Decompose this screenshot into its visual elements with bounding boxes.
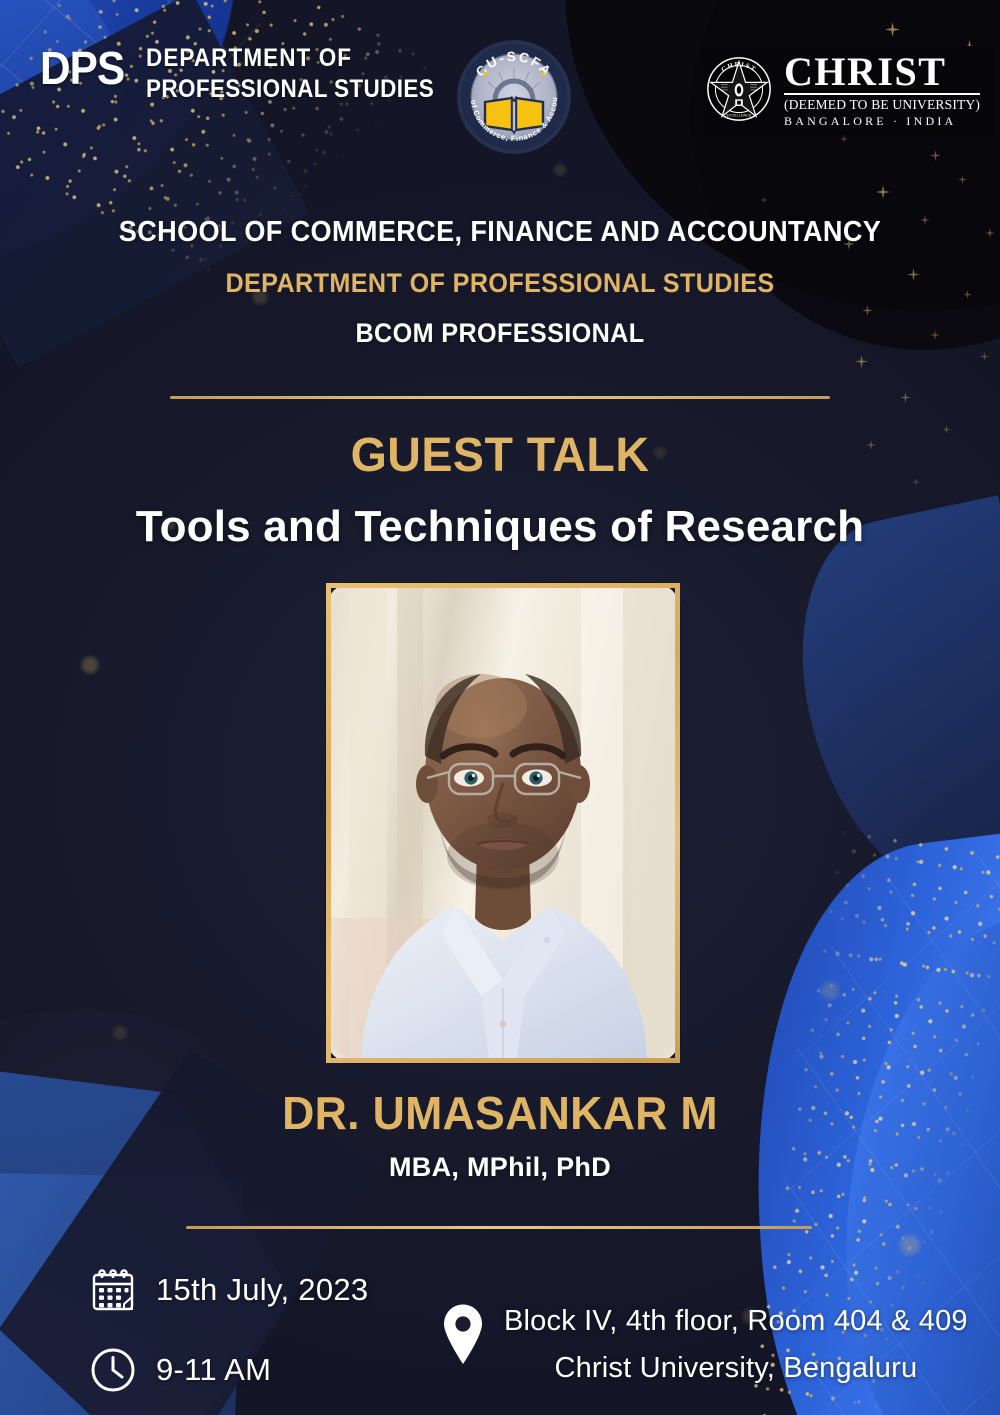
event-date: 15th July, 2023 (156, 1272, 368, 1308)
calendar-icon (88, 1265, 138, 1315)
speaker-photo (331, 588, 675, 1058)
department-name: DEPARTMENT OF PROFESSIONAL STUDIES (25, 268, 975, 299)
event-details: 15th July, 2023 9-11 AM Blo (0, 1255, 1000, 1415)
divider-bottom (186, 1226, 812, 1229)
poster-root: DPS DEPARTMENT OF PROFESSIONAL STUDIES (0, 0, 1000, 1415)
date-time-group: 15th July, 2023 9-11 AM (88, 1265, 368, 1415)
speaker-name: DR. UMASANKAR M (15, 1086, 985, 1140)
venue-group: Block IV, 4th floor, Room 404 & 409 Chri… (440, 1303, 968, 1385)
organisation-block: SCHOOL OF COMMERCE, FINANCE AND ACCOUNTA… (0, 216, 1000, 349)
date-row: 15th July, 2023 (88, 1265, 368, 1315)
speaker-credentials: MBA, MPhil, PhD (0, 1152, 1000, 1183)
venue-line-1: Block IV, 4th floor, Room 404 & 409 (504, 1305, 968, 1338)
map-pin-icon (440, 1303, 486, 1365)
venue-address: Block IV, 4th floor, Room 404 & 409 Chri… (504, 1303, 968, 1385)
speaker-portrait-image (331, 588, 675, 1058)
venue-line-2: Christ University, Bengaluru (504, 1352, 968, 1385)
poster-content: SCHOOL OF COMMERCE, FINANCE AND ACCOUNTA… (0, 0, 1000, 1415)
school-name: SCHOOL OF COMMERCE, FINANCE AND ACCOUNTA… (25, 216, 975, 249)
clock-icon (88, 1345, 138, 1395)
event-title: Tools and Techniques of Research (0, 502, 1000, 552)
speaker-photo-frame (326, 583, 680, 1063)
divider-top (170, 396, 830, 399)
event-type: GUEST TALK (15, 428, 985, 483)
event-time: 9-11 AM (156, 1352, 271, 1388)
programme-name: BCOM PROFESSIONAL (25, 318, 975, 349)
time-row: 9-11 AM (88, 1345, 368, 1395)
